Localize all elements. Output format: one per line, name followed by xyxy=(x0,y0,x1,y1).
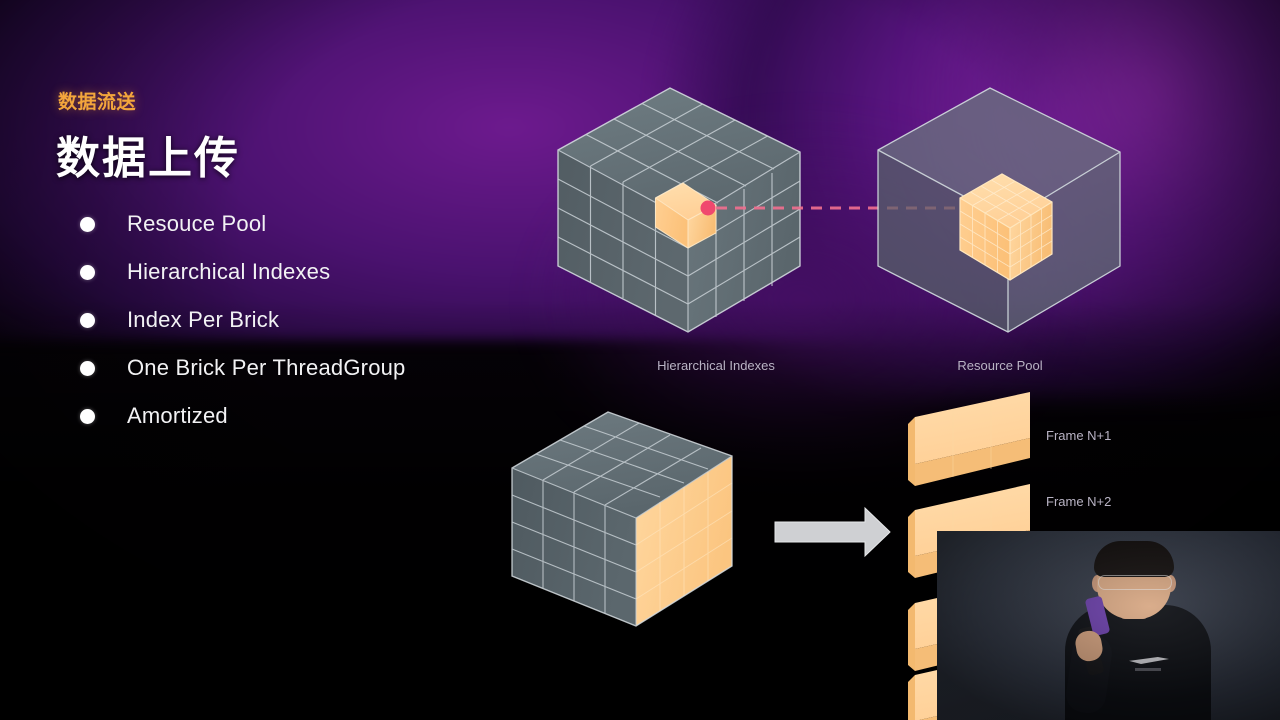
source-marker-dot xyxy=(701,201,716,216)
video-shading xyxy=(937,531,1280,720)
bullet-label: Resouce Pool xyxy=(127,211,266,237)
list-item: One Brick Per ThreadGroup xyxy=(80,344,550,392)
speaker-video-overlay[interactable] xyxy=(937,531,1280,720)
bullet-label: Hierarchical Indexes xyxy=(127,259,330,285)
right-cube-caption: Resource Pool xyxy=(900,358,1100,373)
bullet-dot-icon xyxy=(80,409,95,424)
source-brick-cube xyxy=(512,412,732,626)
list-item: Amortized xyxy=(80,392,550,440)
frame-slab xyxy=(908,392,1030,486)
presentation-slide: 数据流送 数据上传 Resouce Pool Hierarchical Inde… xyxy=(0,0,1280,720)
frame-label-1: Frame N+1 xyxy=(1046,428,1111,443)
left-cube-caption: Hierarchical Indexes xyxy=(616,358,816,373)
bullet-label: Amortized xyxy=(127,403,228,429)
hierarchical-index-cube xyxy=(558,88,800,332)
bullet-label: One Brick Per ThreadGroup xyxy=(127,355,406,381)
list-item: Resouce Pool xyxy=(80,200,550,248)
frame-label-2: Frame N+2 xyxy=(1046,494,1111,509)
bullet-dot-icon xyxy=(80,265,95,280)
top-diagram-svg xyxy=(540,80,1160,360)
resource-pool-cube xyxy=(878,88,1120,332)
flow-arrow-icon xyxy=(775,508,890,556)
bullet-label: Index Per Brick xyxy=(127,307,279,333)
page-title: 数据上传 xyxy=(56,122,240,186)
bullet-dot-icon xyxy=(80,217,95,232)
bullet-list: Resouce Pool Hierarchical Indexes Index … xyxy=(80,200,550,440)
bullet-dot-icon xyxy=(80,313,95,328)
slide-eyebrow: 数据流送 xyxy=(58,87,136,114)
list-item: Hierarchical Indexes xyxy=(80,248,550,296)
bullet-dot-icon xyxy=(80,361,95,376)
top-diagram: Hierarchical Indexes Resource Pool xyxy=(540,80,1160,360)
list-item: Index Per Brick xyxy=(80,296,550,344)
